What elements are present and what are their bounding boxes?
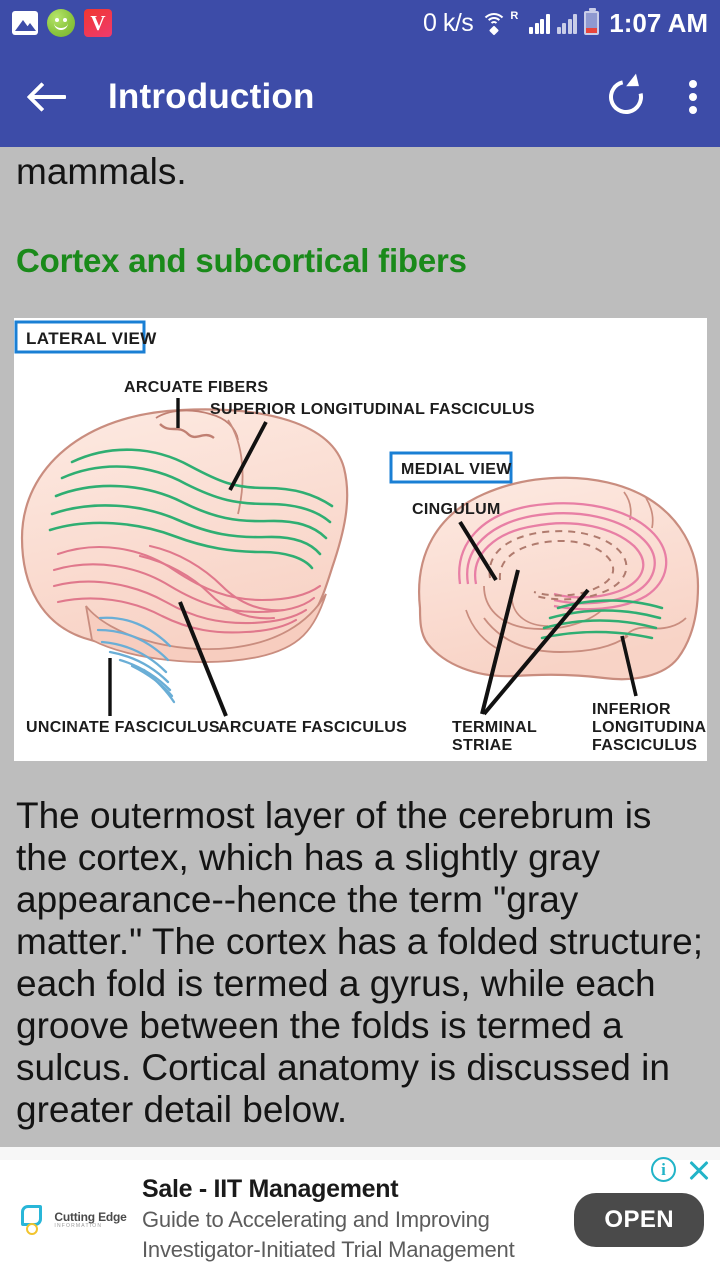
article-body-paragraph: The outermost layer of the cerebrum is t… — [0, 761, 720, 1131]
ad-headline: Sale - IIT Management — [142, 1176, 574, 1204]
section-heading: Cortex and subcortical fibers — [0, 194, 720, 280]
ad-banner[interactable]: Cutting Edge INFORMATION Sale - IIT Mana… — [0, 1160, 720, 1280]
advertiser-logo: Cutting Edge INFORMATION — [10, 1205, 138, 1235]
svg-text:CINGULUM: CINGULUM — [412, 501, 501, 518]
ad-open-button[interactable]: OPEN — [574, 1193, 704, 1247]
status-bar: V 0 k/s R 1:07 AM — [0, 0, 720, 46]
back-arrow-icon[interactable] — [26, 75, 70, 119]
app-bar-actions — [606, 76, 698, 118]
signal-bars-sim2 — [557, 12, 578, 34]
svg-text:ARCUATE FIBERS: ARCUATE FIBERS — [124, 379, 268, 396]
clock-label: 1:07 AM — [609, 8, 708, 39]
ad-description-line-1: Guide to Accelerating and Improving — [142, 1207, 574, 1234]
svg-text:FASCICULUS: FASCICULUS — [592, 737, 697, 754]
more-vertical-icon[interactable] — [680, 76, 698, 118]
ad-text-block: Sale - IIT Management Guide to Accelerat… — [138, 1176, 574, 1263]
paragraph-continuation: mammals. — [0, 147, 720, 194]
wifi-icon — [480, 12, 507, 34]
roaming-indicator: R — [510, 10, 518, 22]
ad-banner-container: Cutting Edge INFORMATION Sale - IIT Mana… — [0, 1147, 720, 1280]
svg-text:UNCINATE FASCICULUS: UNCINATE FASCICULUS — [26, 719, 220, 736]
svg-text:MEDIAL VIEW: MEDIAL VIEW — [401, 461, 512, 478]
battery-icon — [584, 11, 599, 35]
app-bar: Introduction — [0, 46, 720, 147]
status-bar-system-icons: 0 k/s R 1:07 AM — [423, 8, 708, 39]
status-bar-notification-icons: V — [12, 9, 112, 37]
svg-text:SUPERIOR LONGITUDINAL FASCICUL: SUPERIOR LONGITUDINAL FASCICULUS — [210, 401, 535, 418]
page-title: Introduction — [108, 77, 315, 117]
vidmate-icon: V — [84, 9, 112, 37]
smiley-icon — [47, 9, 75, 37]
svg-text:INFERIOR: INFERIOR — [592, 701, 671, 718]
svg-text:ARCUATE FASCICULUS: ARCUATE FASCICULUS — [218, 719, 407, 736]
cortex-and-subcortical-fibers-diagram[interactable]: LATERAL VIEW — [14, 318, 707, 761]
refresh-icon[interactable] — [606, 77, 646, 117]
cutting-edge-logo-icon — [21, 1205, 51, 1235]
article-scroll-area[interactable]: mammals. Cortex and subcortical fibers L… — [0, 147, 720, 1147]
ad-description-line-2: Investigator-Initiated Trial Management — [142, 1237, 574, 1264]
gallery-icon — [12, 11, 38, 35]
svg-text:STRIAE: STRIAE — [452, 737, 512, 754]
close-icon[interactable] — [686, 1156, 712, 1182]
brain-fiber-illustration: LATERAL VIEW — [14, 318, 707, 761]
svg-text:TERMINAL: TERMINAL — [452, 719, 537, 736]
network-speed-label: 0 k/s — [423, 9, 473, 38]
advertiser-logo-title: Cutting Edge — [54, 1211, 126, 1223]
svg-text:LONGITUDINAL: LONGITUDINAL — [592, 719, 707, 736]
signal-bars-sim1 — [529, 12, 550, 34]
advertiser-logo-subtitle: INFORMATION — [54, 1224, 126, 1229]
ad-controls: i — [651, 1156, 712, 1182]
info-icon[interactable]: i — [651, 1157, 676, 1182]
svg-text:LATERAL VIEW: LATERAL VIEW — [26, 329, 157, 348]
